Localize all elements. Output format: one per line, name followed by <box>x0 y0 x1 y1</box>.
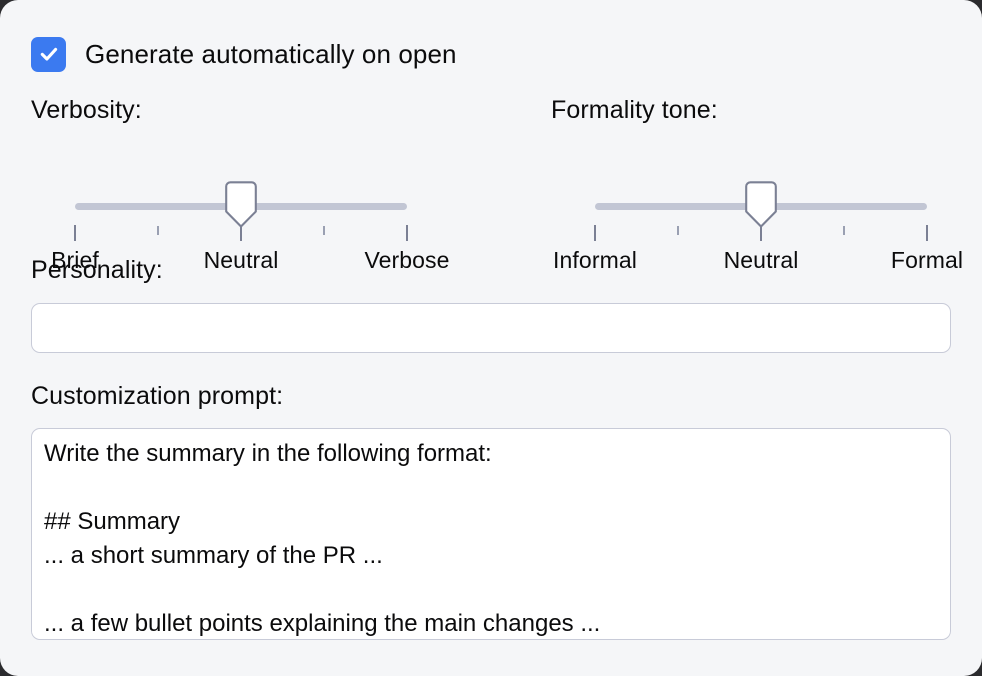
slider-tick <box>157 226 159 235</box>
customization-prompt-label: Customization prompt: <box>31 382 951 411</box>
verbosity-slider-thumb[interactable] <box>223 180 259 232</box>
formality-label: Formality tone: <box>551 96 971 125</box>
slider-tick <box>843 226 845 235</box>
slider-tick <box>594 225 596 241</box>
generate-automatically-label: Generate automatically on open <box>85 39 457 70</box>
settings-panel: Generate automatically on open Verbosity… <box>0 0 982 676</box>
formality-slider[interactable]: Informal Neutral Formal <box>551 145 971 241</box>
formality-group: Formality tone: Informal Neutral Formal <box>551 96 971 241</box>
verbosity-group: Verbosity: Brief Neutral Verbose <box>31 96 451 241</box>
formality-slider-thumb[interactable] <box>743 180 779 232</box>
generate-automatically-checkbox[interactable] <box>31 37 66 72</box>
slider-tick <box>74 225 76 241</box>
slider-tick <box>323 226 325 235</box>
verbosity-slider[interactable]: Brief Neutral Verbose <box>31 145 451 241</box>
verbosity-label: Verbosity: <box>31 96 451 125</box>
personality-input[interactable] <box>31 303 951 353</box>
slider-tick <box>926 225 928 241</box>
slider-tick <box>677 226 679 235</box>
personality-group: Personality: <box>31 256 951 353</box>
personality-label: Personality: <box>31 256 951 285</box>
customization-prompt-textarea[interactable] <box>31 428 951 640</box>
slider-tick <box>406 225 408 241</box>
customization-prompt-group: Customization prompt: <box>31 382 951 640</box>
checkmark-icon <box>38 43 60 65</box>
generate-automatically-row[interactable]: Generate automatically on open <box>31 33 457 75</box>
